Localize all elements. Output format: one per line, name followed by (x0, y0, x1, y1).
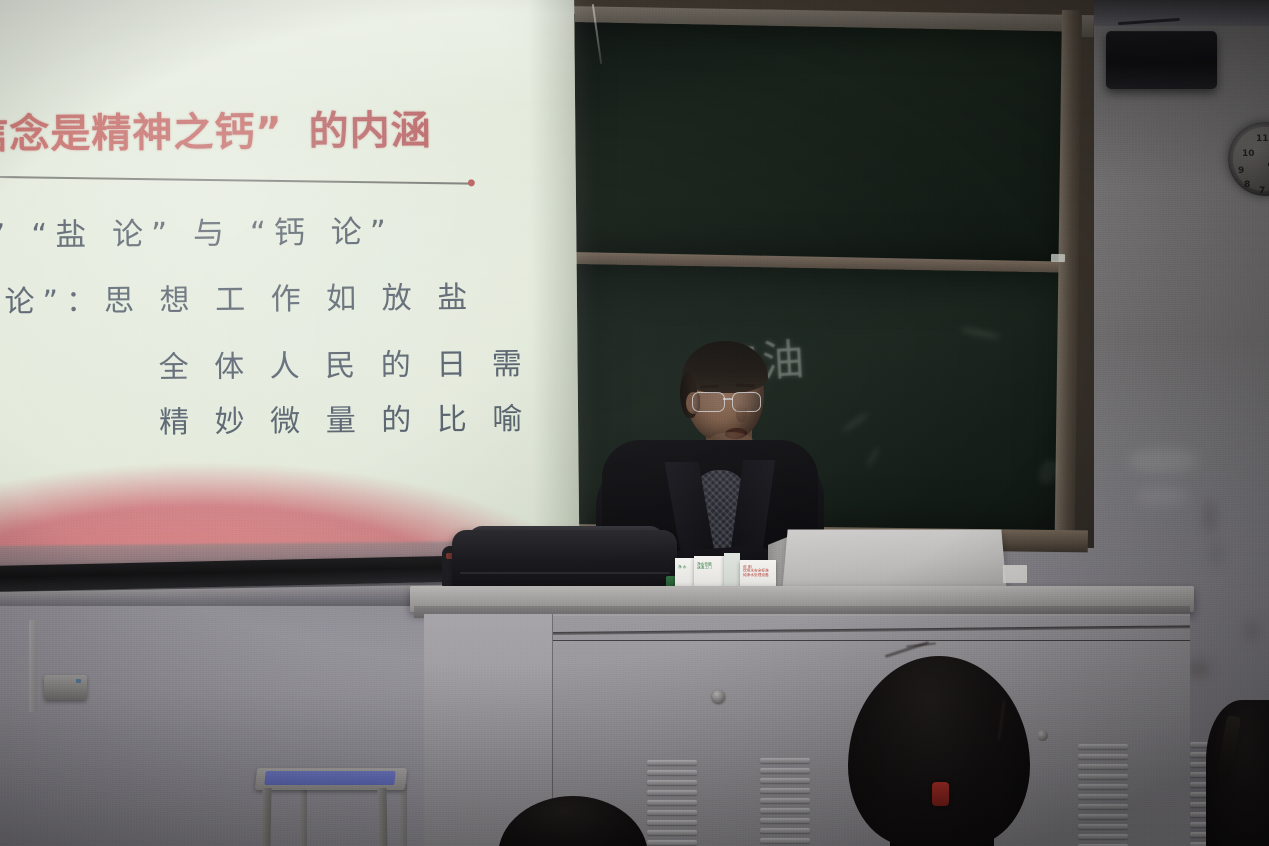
screen-edge-shading (528, 0, 580, 575)
glasses-lens-left (692, 392, 725, 412)
lectern-top-panel[interactable] (782, 529, 1007, 594)
medicine-box-text: 净 水 (678, 565, 687, 569)
blackboard-upper-panel[interactable] (568, 22, 1072, 264)
hair-tie (932, 782, 949, 806)
stool-leg (261, 788, 271, 846)
slide-title: 想信念是精神之钙”的内涵 (0, 98, 432, 161)
podium-lock[interactable] (712, 690, 725, 703)
clock-face: 12 11 10 9 8 7 6 (1233, 127, 1269, 191)
stool-leg (377, 788, 387, 846)
projector-glow (0, 0, 575, 114)
wall-speaker (1106, 31, 1217, 89)
stool-leg (300, 786, 307, 846)
title-underline (0, 175, 472, 184)
wall-stain (1245, 620, 1259, 642)
podium-vent (760, 758, 810, 846)
clock-numeral-10: 10 (1242, 149, 1255, 159)
slide-body-line-4: 精 妙 微 量 的 比 喻 (159, 394, 531, 442)
wall-stain (1136, 486, 1188, 506)
podium-vent (1078, 744, 1128, 846)
chalk-piece[interactable] (1051, 254, 1065, 262)
medicine-box-text: 说 明 饮用水安全标准 纯净水处理设备 (743, 565, 769, 577)
podium-lock[interactable] (1037, 730, 1048, 741)
wall-conduit (29, 620, 37, 712)
stool-leg (400, 784, 407, 846)
wall-electrical-box-indicator (76, 679, 81, 683)
clock-numeral-8: 8 (1244, 180, 1250, 190)
glasses-icon (692, 392, 764, 411)
projection-screen: 想信念是精神之钙”的内涵 论” “盐 论” 与 “钙 论” 盐 论”：思 想 工… (0, 0, 580, 580)
paper-sheet[interactable] (1003, 565, 1027, 583)
slide-title-main: 想信念是精神之钙” (0, 109, 283, 158)
clock-numeral-9: 9 (1238, 166, 1244, 176)
clock-numeral-7: 7 (1259, 186, 1265, 196)
lower-wall (0, 606, 440, 846)
podium-vent (647, 760, 697, 846)
slide-body-line-1: 论” “盐 论” 与 “钙 论” (0, 206, 394, 255)
title-underline-dot (468, 179, 475, 186)
instructor-nose (736, 404, 747, 422)
medicine-box-text: 净水信赖 送清上门 (697, 562, 712, 570)
wall-stain (1205, 500, 1215, 534)
stool-seat[interactable] (264, 771, 395, 785)
slide-body-line-2: 盐 论”：思 想 工 作 如 放 盐 (0, 272, 475, 321)
classroom-photo-scene: 加油 12 11 10 9 8 7 6 想信念是精神之钙”的内涵 论” “盐 论… (0, 0, 1269, 846)
laptop-bag-seam (460, 572, 670, 574)
wall-stain (1212, 540, 1220, 566)
wall-stain (1128, 448, 1198, 474)
slide-title-tail: 的内涵 (308, 108, 431, 155)
clock-numeral-11: 11 (1256, 134, 1269, 144)
slide-body-line-3: 全 体 人 民 的 日 需 (158, 339, 530, 387)
